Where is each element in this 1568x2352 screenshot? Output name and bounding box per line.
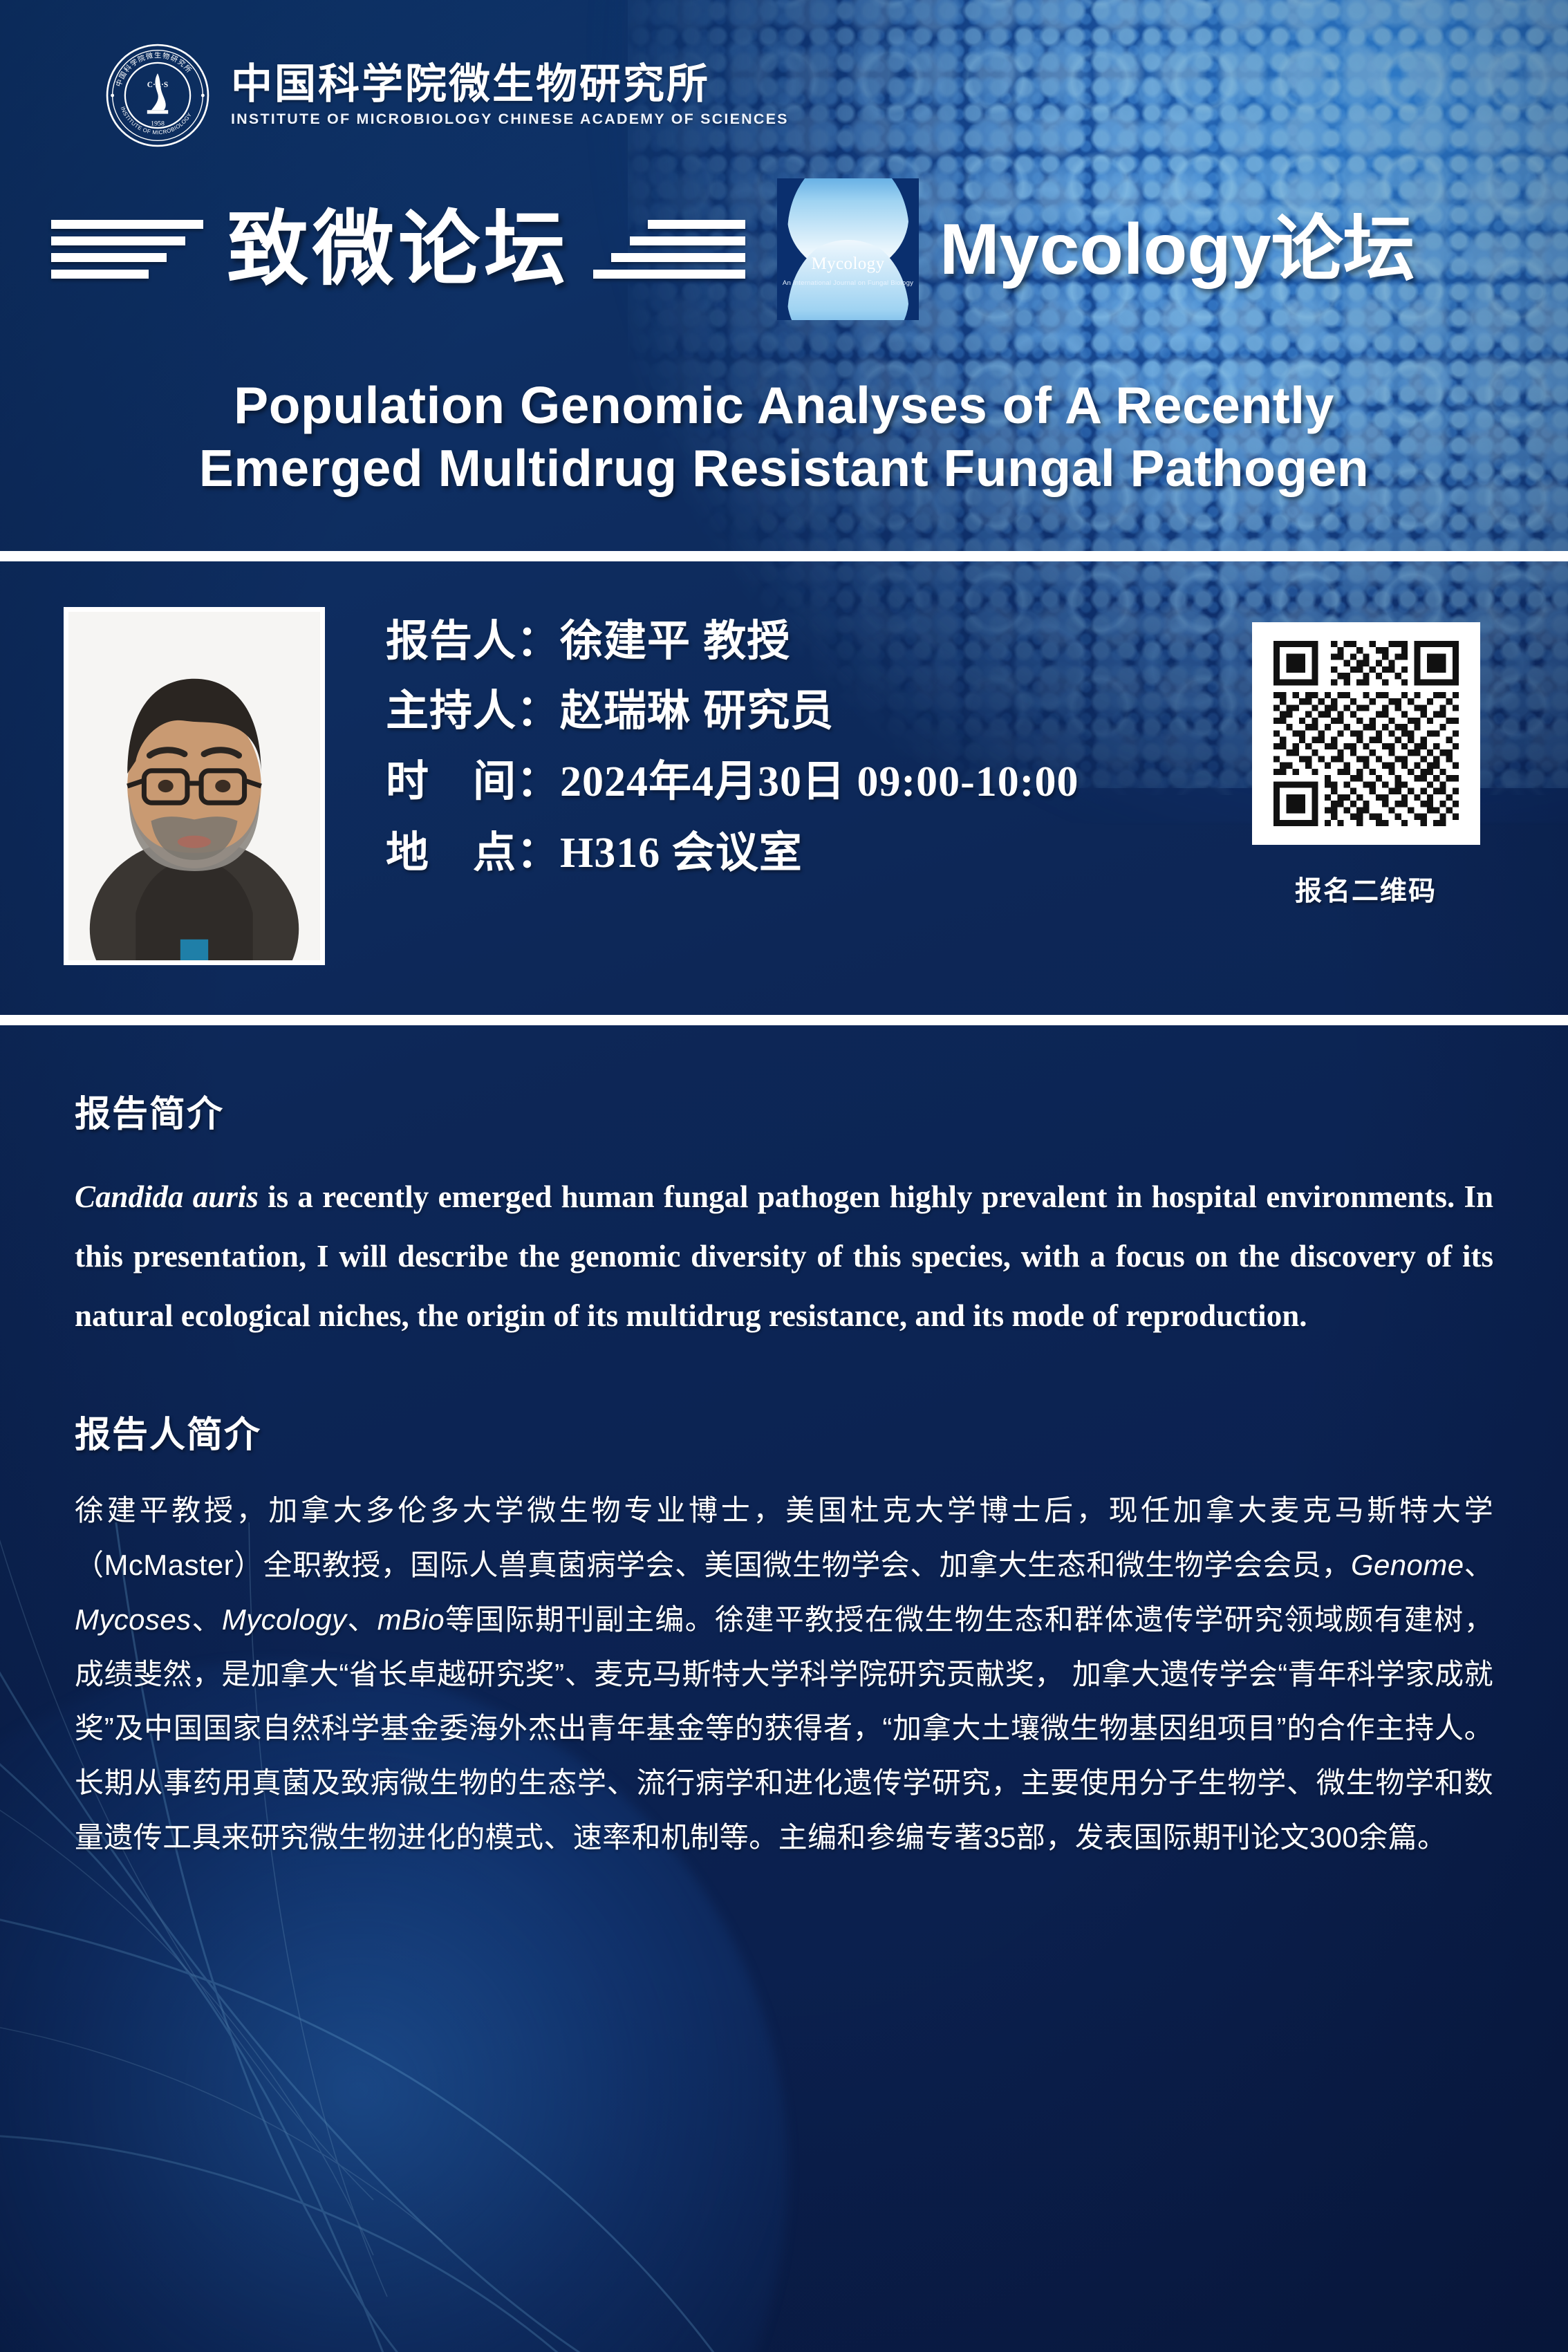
abstract-heading: 报告简介: [75, 1085, 1493, 1137]
host-value: 赵瑞琳 研究员: [560, 687, 834, 735]
journal-name-4: mBio: [377, 1603, 445, 1636]
talk-title-line-1: Population Genomic Analyses of A Recentl…: [97, 374, 1471, 437]
time-value: 2024年4月30日 09:00-10:00: [560, 758, 1079, 805]
bio-text: 徐建平教授，加拿大多伦多大学微生物专业博士，美国杜克大学博士后，现任加拿大麦克马…: [75, 1484, 1493, 1866]
talk-title: Population Genomic Analyses of A Recentl…: [0, 374, 1568, 500]
institute-name-en: INSTITUTE OF MICROBIOLOGY CHINESE ACADEM…: [231, 112, 789, 127]
qr-card[interactable]: [1252, 622, 1480, 845]
bio-part-1: 徐建平教授，加拿大多伦多大学微生物专业博士，美国杜克大学博士后，现任加拿大麦克马…: [75, 1494, 1493, 1581]
institute-logo: C·A·S 1958 中国科学院微生物研究所 INSTITUTE OF MICR…: [0, 0, 1568, 148]
institute-name-cn: 中国科学院微生物研究所: [231, 64, 789, 105]
bio-section: 报告人简介 徐建平教授，加拿大多伦多大学微生物专业博士，美国杜克大学博士后，现任…: [0, 1406, 1568, 1866]
seminar-poster: C·A·S 1958 中国科学院微生物研究所 INSTITUTE OF MICR…: [0, 0, 1568, 2352]
event-info-lines: 报告人：徐建平 教授 主持人：赵瑞琳 研究员 时 间：2024年4月30日 09…: [386, 617, 1247, 879]
registration-qr-block[interactable]: 报名二维码: [1247, 622, 1485, 908]
speaker-portrait-frame: [64, 607, 325, 965]
journal-sep-2: 、: [192, 1603, 222, 1636]
divider-bottom: [0, 1015, 1568, 1025]
host-line: 主持人：赵瑞琳 研究员: [386, 687, 1247, 736]
forum-name-en: Mycology论坛: [940, 214, 1415, 286]
speaker-value: 徐建平 教授: [560, 617, 790, 665]
forum-name-cn: 致微论坛: [227, 209, 570, 290]
venue-value: H316 会议室: [560, 830, 803, 877]
journal-name-2: Mycoses: [75, 1603, 192, 1636]
venue-label: 地 点：: [386, 829, 560, 877]
abstract-text: Candida auris is a recently emerged huma…: [75, 1167, 1493, 1346]
journal-logo-title: Mycology: [777, 254, 919, 274]
species-name: Candida auris: [75, 1179, 259, 1214]
cas-microbiology-seal-icon: C·A·S 1958 中国科学院微生物研究所 INSTITUTE OF MICR…: [105, 43, 210, 148]
time-line: 时 间：2024年4月30日 09:00-10:00: [386, 757, 1247, 808]
venue-line: 地 点：H316 会议室: [386, 828, 1247, 879]
qr-caption: 报名二维码: [1295, 870, 1437, 908]
journal-logo-subtitle: An International Journal on Fungal Biolo…: [777, 279, 919, 287]
decorative-rule-lines-icon: [51, 220, 203, 279]
bio-part-2: 等国际期刊副主编。徐建平教授在微生物生态和群体遗传学研究领域颇有建树，成绩斐然，…: [75, 1603, 1493, 1854]
registration-qr-code[interactable]: [1273, 641, 1459, 826]
time-label: 时 间：: [386, 758, 560, 805]
journal-name-3: Mycology: [222, 1603, 347, 1636]
decorative-rule-lines-right-icon: [593, 220, 745, 279]
speaker-label: 报告人：: [386, 617, 560, 665]
talk-title-line-2: Emerged Multidrug Resistant Fungal Patho…: [97, 437, 1471, 500]
abstract-body: is a recently emerged human fungal patho…: [75, 1179, 1493, 1334]
event-info-block: 报告人：徐建平 教授 主持人：赵瑞琳 研究员 时 间：2024年4月30日 09…: [0, 561, 1568, 1015]
divider-top: [0, 551, 1568, 561]
svg-text:1958: 1958: [151, 120, 165, 127]
journal-name-1: Genome: [1351, 1549, 1464, 1581]
abstract-section: 报告简介 Candida auris is a recently emerged…: [0, 1085, 1568, 1346]
bio-heading: 报告人简介: [75, 1406, 1493, 1457]
forum-banner: 致微论坛 Mycology An International Journal o…: [0, 148, 1568, 320]
journal-sep-3: 、: [346, 1603, 377, 1636]
mycology-journal-cover-icon: Mycology An International Journal on Fun…: [777, 178, 919, 320]
svg-text:C·A·S: C·A·S: [147, 81, 168, 89]
speaker-line: 报告人：徐建平 教授: [386, 617, 1247, 666]
host-label: 主持人：: [386, 687, 560, 735]
speaker-portrait-photo: [68, 612, 320, 960]
journal-sep-1: 、: [1464, 1549, 1493, 1581]
